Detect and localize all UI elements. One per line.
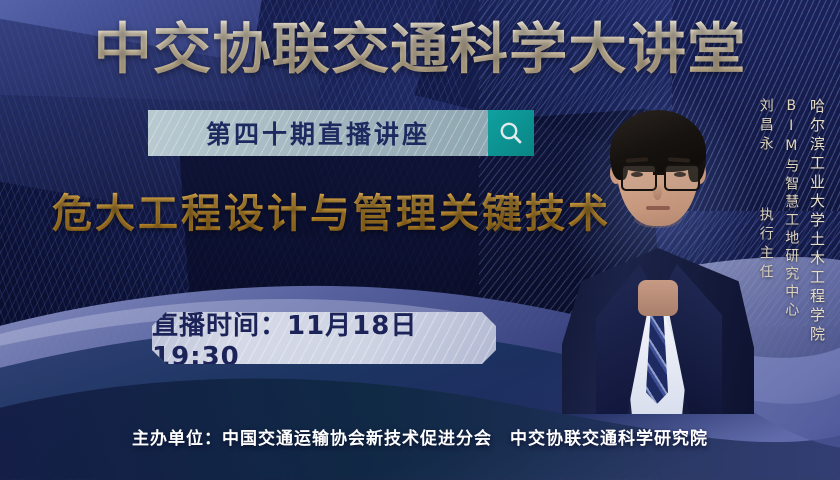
organizers-footer: 主办单位：中国交通运输协会新技术促进分会 中交协联交通科学研究院 [0,424,840,449]
speaker-portrait [560,84,755,414]
speaker-title: 执行主任 [758,207,774,283]
series-label: 第四十期直播讲座 [148,110,488,156]
portrait-neck [638,280,678,316]
lecture-topic: 危大工程设计与管理关键技术 [52,186,611,242]
speaker-school: 哈尔滨工业大学土木工程学院 [807,98,826,345]
speaker-credits: 刘昌永 执行主任 BIM与智慧工地研究中心 哈尔滨工业大学土木工程学院 [756,98,826,345]
speaker-center: BIM与智慧工地研究中心 [782,98,800,320]
live-time-badge: 直播时间：11月18日19:30 [152,312,496,364]
glasses-icon-right-lens [664,164,700,191]
portrait-chin [634,210,682,228]
glasses-icon-bridge [653,172,664,175]
search-icon[interactable] [488,110,534,156]
glasses-icon-left-lens [621,164,657,191]
speaker-name: 刘昌永 [758,98,774,155]
live-stream-poster: 中交协联交通科学大讲堂 第四十期直播讲座 危大工程设计与管理关键技术 直播时间：… [0,0,840,480]
portrait-nose [653,184,662,200]
speaker-name-and-title: 刘昌永 执行主任 [756,98,774,283]
series-bar: 第四十期直播讲座 [148,110,534,156]
main-title: 中交协联交通科学大讲堂 [0,18,840,80]
